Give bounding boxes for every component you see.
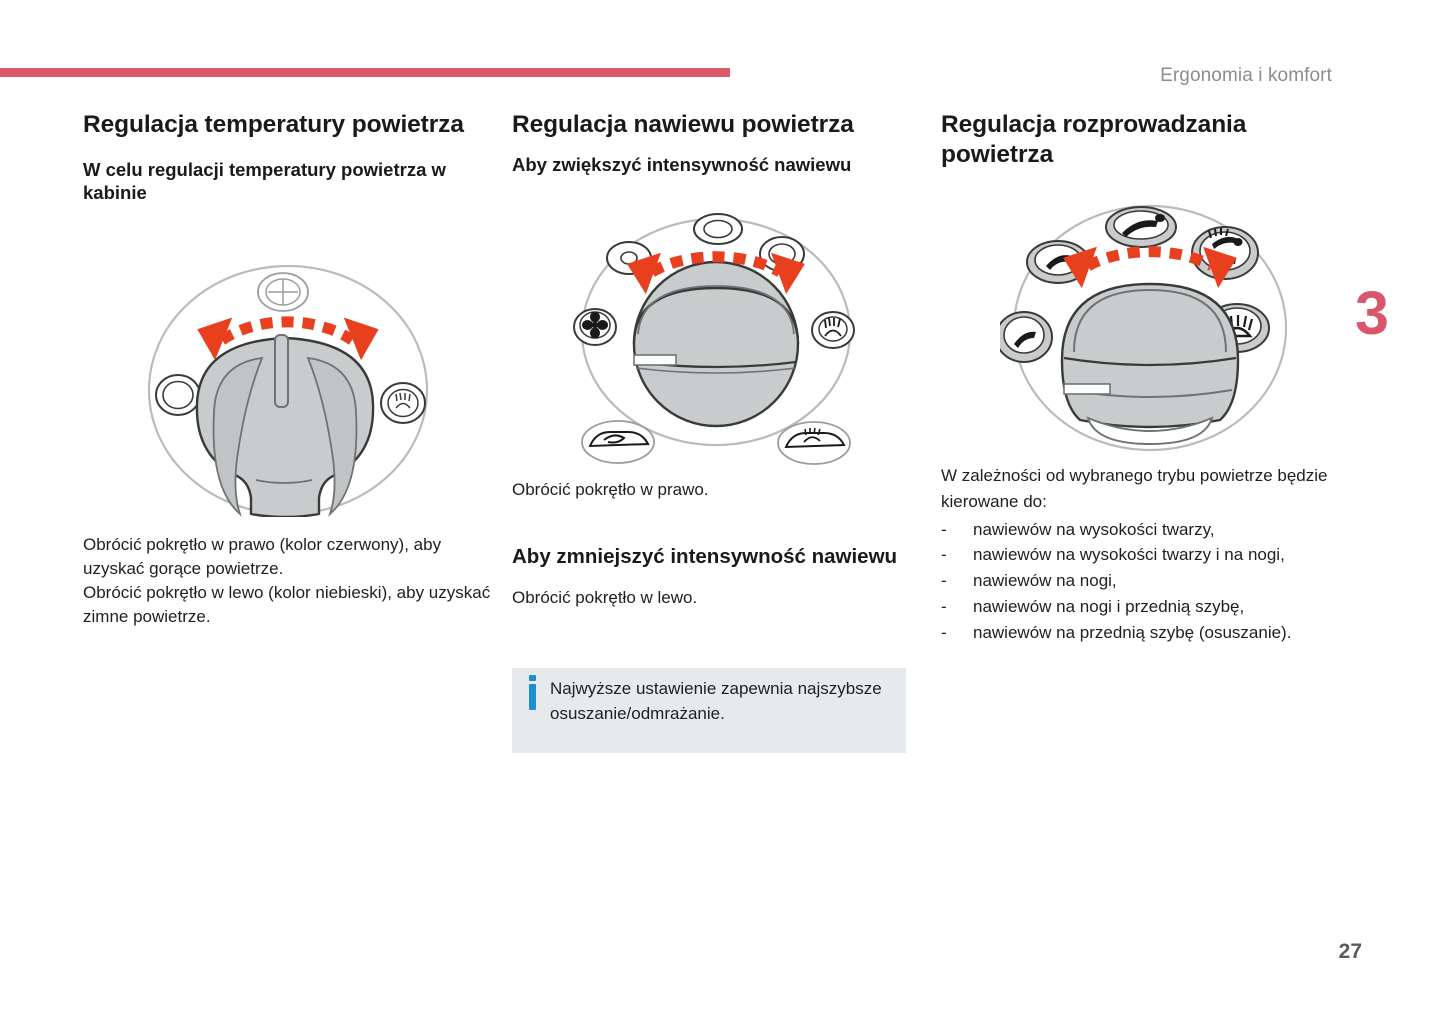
distribution-list: -nawiewów na wysokości twarzy,-nawiewów … (941, 517, 1341, 646)
windscreen-defrost-icon (778, 422, 850, 464)
airflow-lower-text: Obrócić pokrętło w prawo. Aby zmniejszyć… (512, 478, 912, 610)
info-icon (529, 684, 536, 710)
info-note: Najwyższe ustawienie zapewnia najszybsze… (512, 668, 906, 753)
header-rule (0, 68, 730, 77)
air-distribution-dial (1000, 200, 1300, 465)
list-dash: - (941, 620, 947, 646)
chapter-number: 3 (1355, 283, 1389, 344)
feet-vent-icon (1000, 312, 1052, 362)
face-vent-icon (1106, 207, 1176, 247)
caption-cold: Obrócić pokrętło w lewo (kolor niebieski… (83, 581, 503, 629)
subheading-temperature: W celu regulacji temperatury powietrza w… (83, 158, 498, 204)
list-dash: - (941, 594, 947, 620)
column-airflow: Regulacja nawiewu powietrza Aby zwiększy… (512, 110, 912, 176)
caption-increase-airflow: Obrócić pokrętło w prawo. (512, 478, 912, 502)
list-dash: - (941, 568, 947, 594)
info-icon-dot (529, 675, 536, 681)
temperature-control-dial (140, 262, 440, 522)
list-item: -nawiewów na nogi, (941, 568, 1341, 594)
list-item: -nawiewów na wysokości twarzy, (941, 517, 1341, 543)
subheading-decrease-airflow: Aby zmniejszyć intensywność nawiewu (512, 544, 912, 570)
column-distribution: Regulacja rozprowadzania powietrza (941, 110, 1341, 170)
list-item-label: nawiewów na przednią szybę (osuszanie). (973, 623, 1291, 642)
distribution-text: W zależności od wybranego trybu powietrz… (941, 463, 1341, 646)
list-item-label: nawiewów na wysokości twarzy i na nogi, (973, 545, 1285, 564)
rear-defrost-icon (812, 312, 854, 348)
caption-decrease-airflow: Obrócić pokrętło w lewo. (512, 586, 912, 610)
list-dash: - (941, 542, 947, 568)
section-heading-temperature: Regulacja temperatury powietrza (83, 110, 498, 140)
fan-icon (574, 309, 616, 345)
distribution-intro: W zależności od wybranego trybu powietrz… (941, 463, 1341, 515)
section-heading-distribution: Regulacja rozprowadzania powietrza (941, 110, 1341, 170)
list-item: -nawiewów na wysokości twarzy i na nogi, (941, 542, 1341, 568)
list-item-label: nawiewów na wysokości twarzy, (973, 520, 1215, 539)
recirculation-icon (582, 421, 654, 463)
list-item: -nawiewów na nogi i przednią szybę, (941, 594, 1341, 620)
info-note-text: Najwyższe ustawienie zapewnia najszybsze… (550, 677, 895, 727)
subheading-increase-airflow: Aby zwiększyć intensywność nawiewu (512, 153, 912, 176)
temperature-captions: Obrócić pokrętło w prawo (kolor czerwony… (83, 533, 503, 630)
list-dash: - (941, 517, 947, 543)
list-item-label: nawiewów na nogi, (973, 571, 1117, 590)
blower-speed-dial (566, 212, 866, 472)
list-item: -nawiewów na przednią szybę (osuszanie). (941, 620, 1341, 646)
page-number: 27 (1339, 940, 1362, 964)
list-item-label: nawiewów na nogi i przednią szybę, (973, 597, 1244, 616)
running-head: Ergonomia i komfort (1160, 65, 1332, 87)
section-heading-airflow: Regulacja nawiewu powietrza (512, 110, 912, 140)
caption-hot: Obrócić pokrętło w prawo (kolor czerwony… (83, 533, 503, 581)
manual-page: Ergonomia i komfort 3 27 Regulacja tempe… (0, 0, 1445, 1019)
column-temperature: Regulacja temperatury powietrza W celu r… (83, 110, 498, 204)
